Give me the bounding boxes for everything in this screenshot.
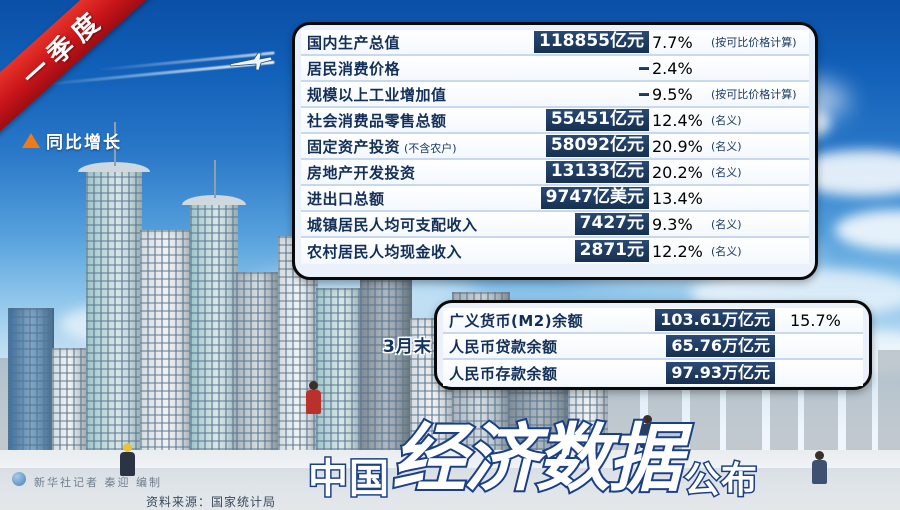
airplane-icon	[228, 52, 274, 72]
person-silhouette	[812, 451, 827, 484]
row-note: (按可比价格计算)	[711, 34, 797, 50]
row-label: 广义货币(M2)余额	[449, 310, 583, 331]
author-credit: 新华社记者 秦迎 编制	[34, 474, 162, 490]
row-value: 2871元	[575, 240, 649, 262]
person-silhouette	[120, 443, 135, 476]
table-row: 人民币贷款余额 65.76万亿元	[443, 334, 863, 360]
money-supply-panel: 广义货币(M2)余额 103.61万亿元 15.7% 人民币贷款余额 65.76…	[434, 300, 872, 390]
table-row: 社会消费品零售总额 55451亿元 12.4% (名义)	[301, 108, 809, 134]
table-row: 广义货币(M2)余额 103.61万亿元 15.7%	[443, 308, 863, 334]
row-delta: 20.9%	[652, 137, 703, 156]
row-value	[639, 93, 649, 96]
row-label: 规模以上工业增加值	[307, 84, 447, 105]
row-label: 人民币存款余额	[449, 363, 558, 384]
row-note: (名义)	[711, 138, 742, 154]
row-value	[639, 67, 649, 70]
row-delta: 15.7%	[790, 311, 841, 330]
row-label: 城镇居民人均可支配收入	[307, 214, 478, 235]
table-row: 进出口总额 9747亿美元 13.4%	[301, 186, 809, 212]
triangle-up-icon	[22, 133, 40, 148]
row-delta: 13.4%	[652, 189, 703, 208]
row-delta: 20.2%	[652, 163, 703, 182]
row-note: (名义)	[711, 216, 742, 232]
month-tag: 3月末	[383, 332, 432, 357]
headline-prefix: 中国	[308, 460, 390, 498]
row-note: (名义)	[711, 243, 742, 259]
headline-title: 中国 经济数据 公布	[308, 427, 758, 498]
row-delta: 12.2%	[652, 242, 703, 261]
row-note: (名义)	[711, 112, 742, 128]
legend-label: 同比增长	[46, 128, 122, 153]
row-value: 13133亿元	[546, 161, 649, 183]
row-delta: 7.7%	[652, 33, 693, 52]
row-value: 65.76万亿元	[666, 335, 775, 357]
row-label: 国内生产总值	[307, 32, 400, 53]
table-row: 居民消费价格 2.4%	[301, 56, 809, 82]
table-row: 固定资产投资(不含农户) 58092亿元 20.9% (名义)	[301, 134, 809, 160]
row-value: 9747亿美元	[541, 187, 649, 209]
row-label: 进出口总额	[307, 188, 385, 209]
row-delta: 12.4%	[652, 111, 703, 130]
row-label: 社会消费品零售总额	[307, 110, 447, 131]
person-silhouette	[306, 381, 321, 414]
row-sublabel: (不含农户)	[404, 140, 457, 156]
row-value: 55451亿元	[546, 109, 649, 131]
row-delta: 9.3%	[652, 215, 693, 234]
row-value: 103.61万亿元	[655, 309, 775, 331]
row-value: 7427元	[575, 213, 649, 235]
row-label: 房地产开发投资	[307, 162, 416, 183]
row-label: 居民消费价格	[307, 58, 400, 79]
table-row: 人民币存款余额 97.93万亿元	[443, 360, 863, 386]
row-label: 农村居民人均现金收入	[307, 241, 462, 262]
headline-main: 经济数据	[392, 427, 680, 492]
row-value: 58092亿元	[546, 135, 649, 157]
row-label: 人民币贷款余额	[449, 336, 558, 357]
table-row: 规模以上工业增加值 9.5% (按可比价格计算)	[301, 82, 809, 108]
row-value: 97.93万亿元	[666, 362, 775, 384]
row-value: 118855亿元	[534, 31, 649, 53]
agency-logo-icon	[12, 472, 26, 486]
table-row: 城镇居民人均可支配收入 7427元 9.3% (名义)	[301, 212, 809, 238]
source-credit: 资料来源：国家统计局	[146, 493, 276, 510]
row-delta: 9.5%	[652, 85, 693, 104]
headline-suffix: 公布	[684, 464, 758, 498]
table-row: 房地产开发投资 13133亿元 20.2% (名义)	[301, 160, 809, 186]
main-indicators-panel: 国内生产总值 118855亿元 7.7% (按可比价格计算) 居民消费价格 2.…	[292, 22, 818, 280]
row-delta: 2.4%	[652, 59, 693, 78]
table-row: 农村居民人均现金收入 2871元 12.2% (名义)	[301, 238, 809, 264]
row-note: (名义)	[711, 164, 742, 180]
table-row: 国内生产总值 118855亿元 7.7% (按可比价格计算)	[301, 30, 809, 56]
legend: 同比增长	[22, 128, 122, 153]
row-label: 固定资产投资	[307, 136, 400, 157]
infographic-canvas: 一季度 同比增长 国内生产总值 118855亿元 7.7% (按可比价格计算) …	[0, 0, 900, 510]
row-note: (按可比价格计算)	[711, 86, 797, 102]
